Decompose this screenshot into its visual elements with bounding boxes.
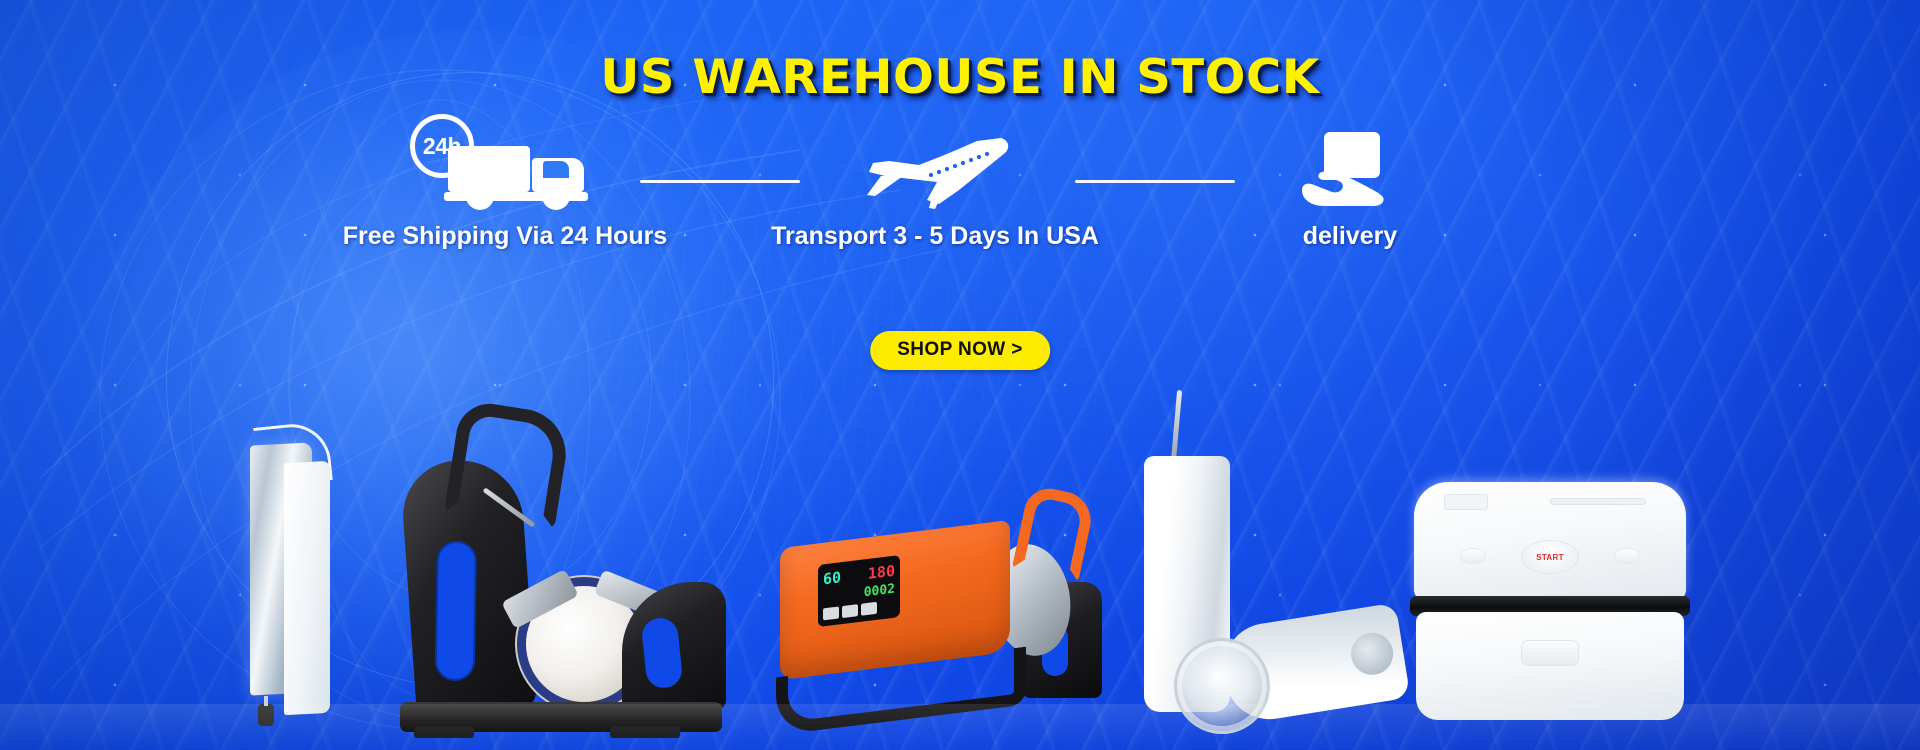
appliance-label-sticker [1444, 494, 1488, 510]
tumbler-lid [1174, 638, 1270, 734]
appliance-button-left[interactable] [1460, 548, 1486, 564]
appliance-start-button[interactable]: START [1521, 540, 1579, 574]
product-orange-mug-heat-press[interactable]: 60 180 0002 [770, 426, 1100, 726]
product-white-tumblers[interactable] [1130, 410, 1400, 740]
appliance-body [1416, 612, 1684, 720]
display-button-menu[interactable] [823, 606, 839, 620]
promo-banner: US WAREHOUSE IN STOCK 24h Free Shipping … [0, 0, 1920, 750]
press-foot-left [414, 726, 474, 738]
appliance-lid: START [1414, 482, 1686, 600]
press-lever-arm [1012, 484, 1096, 582]
press-control-display[interactable]: 60 180 0002 [818, 555, 900, 627]
product-showcase: 60 180 0002 [0, 0, 1920, 750]
plug-pin [264, 696, 268, 706]
tumbler-base-cap [1348, 630, 1396, 678]
press-foot-right [610, 726, 680, 738]
product-white-appliance[interactable]: START [1400, 428, 1700, 728]
tumbler-straw [1171, 390, 1182, 462]
product-heat-press-plate[interactable] [232, 428, 372, 728]
appliance-handle[interactable] [1521, 640, 1579, 666]
white-wrap-panel [284, 461, 330, 715]
product-black-mug-heat-press[interactable] [400, 332, 730, 732]
appliance-vent-slot [1550, 498, 1646, 505]
display-temperature: 60 [823, 568, 841, 588]
display-button-up[interactable] [861, 602, 877, 616]
power-plug [258, 704, 274, 726]
display-set-temperature: 180 [868, 562, 895, 583]
display-button-down[interactable] [842, 604, 858, 618]
appliance-button-right[interactable] [1614, 548, 1640, 564]
